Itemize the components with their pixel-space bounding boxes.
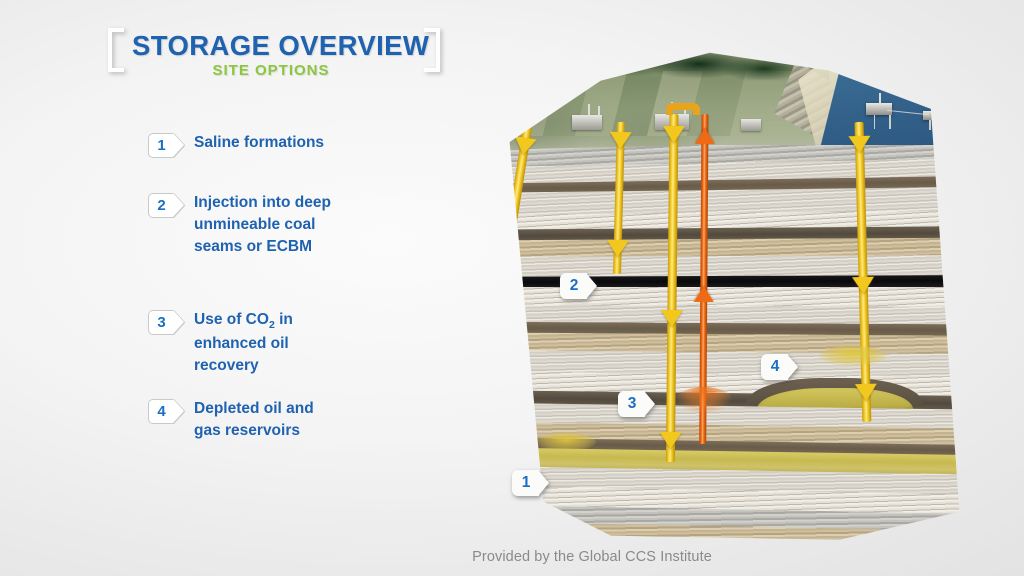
- bracket-left-icon: [108, 28, 124, 72]
- sea-icon: [819, 40, 975, 152]
- eor-injection-well: [659, 114, 685, 462]
- legend-badge-3-number: 3: [148, 310, 175, 335]
- legend-label-4: Depleted oil and gas reservoirs: [194, 398, 338, 442]
- forest-icon: [486, 42, 808, 80]
- footer-credit-text: Provided by the Global CCS Institute: [472, 549, 712, 565]
- eor-wellhead-elbow-icon: [666, 103, 700, 115]
- footer-credit: Provided by the Global CCS Institute: [0, 549, 1024, 565]
- diagram-callout-1-number: 1: [512, 470, 540, 496]
- legend-item-4[interactable]: 4 Depleted oil and gas reservoirs: [148, 398, 338, 442]
- diagram-callout-4[interactable]: 4: [761, 354, 797, 380]
- legend-label-3: Use of CO2 in enhanced oil recovery: [194, 309, 318, 377]
- diagram-callout-4-number: 4: [761, 354, 789, 380]
- legend-label-3-pre: Use of CO: [194, 311, 269, 328]
- industrial-plant-icon: [478, 114, 504, 130]
- legend-badge-2: 2: [148, 193, 182, 218]
- legend-badge-1-number: 1: [148, 133, 175, 158]
- plant-stack-icon: [588, 104, 590, 116]
- legend-badge-3: 3: [148, 310, 182, 335]
- platform-derrick-icon: [879, 93, 881, 104]
- saline-plume-icon: [536, 433, 596, 451]
- legend-badge-1: 1: [148, 133, 182, 158]
- plant-stack-icon: [503, 105, 505, 115]
- legend-label-1: Saline formations: [194, 132, 324, 154]
- platform-leg-icon: [929, 120, 931, 130]
- diagram-callout-1[interactable]: 1: [512, 470, 548, 496]
- legend-badge-4-number: 4: [148, 399, 175, 424]
- diagram-callout-3[interactable]: 3: [618, 391, 654, 417]
- legend-item-1[interactable]: 1 Saline formations: [148, 132, 418, 158]
- offshore-platform-icon-2: [923, 111, 942, 120]
- page-title: STORAGE OVERVIEW: [132, 30, 410, 62]
- industrial-plant-icon-2: [572, 115, 602, 130]
- diagram-callout-2-number: 2: [560, 273, 588, 299]
- diagram-callout-2[interactable]: 2: [560, 273, 596, 299]
- legend-badge-4: 4: [148, 399, 182, 424]
- platform-leg-icon: [889, 115, 891, 129]
- legend-item-2[interactable]: 2 Injection into deep unmineable coal se…: [148, 192, 338, 258]
- diagram-callout-3-number: 3: [618, 391, 646, 417]
- legend-item-3[interactable]: 3 Use of CO2 in enhanced oil recovery: [148, 309, 318, 377]
- depleted-reservoir-plume-icon: [819, 346, 887, 366]
- coal-seam-injection-well: [607, 121, 631, 273]
- legend-badge-2-number: 2: [148, 193, 175, 218]
- platform-leg-icon: [874, 115, 876, 129]
- legend-label-2: Injection into deep unmineable coal seam…: [194, 192, 338, 258]
- coastal-plant-icon: [741, 119, 761, 131]
- geology-diagram: 2 3 4 1: [455, 40, 975, 550]
- plant-stack-icon: [494, 103, 496, 115]
- plant-stack-icon: [598, 106, 600, 116]
- strata-layer: [455, 287, 975, 306]
- page-subtitle: SITE OPTIONS: [132, 62, 410, 79]
- eor-plume-icon: [676, 387, 732, 413]
- offshore-platform-icon: [866, 103, 892, 115]
- title-block: STORAGE OVERVIEW SITE OPTIONS: [100, 26, 440, 86]
- platform-leg-icon: [941, 120, 943, 130]
